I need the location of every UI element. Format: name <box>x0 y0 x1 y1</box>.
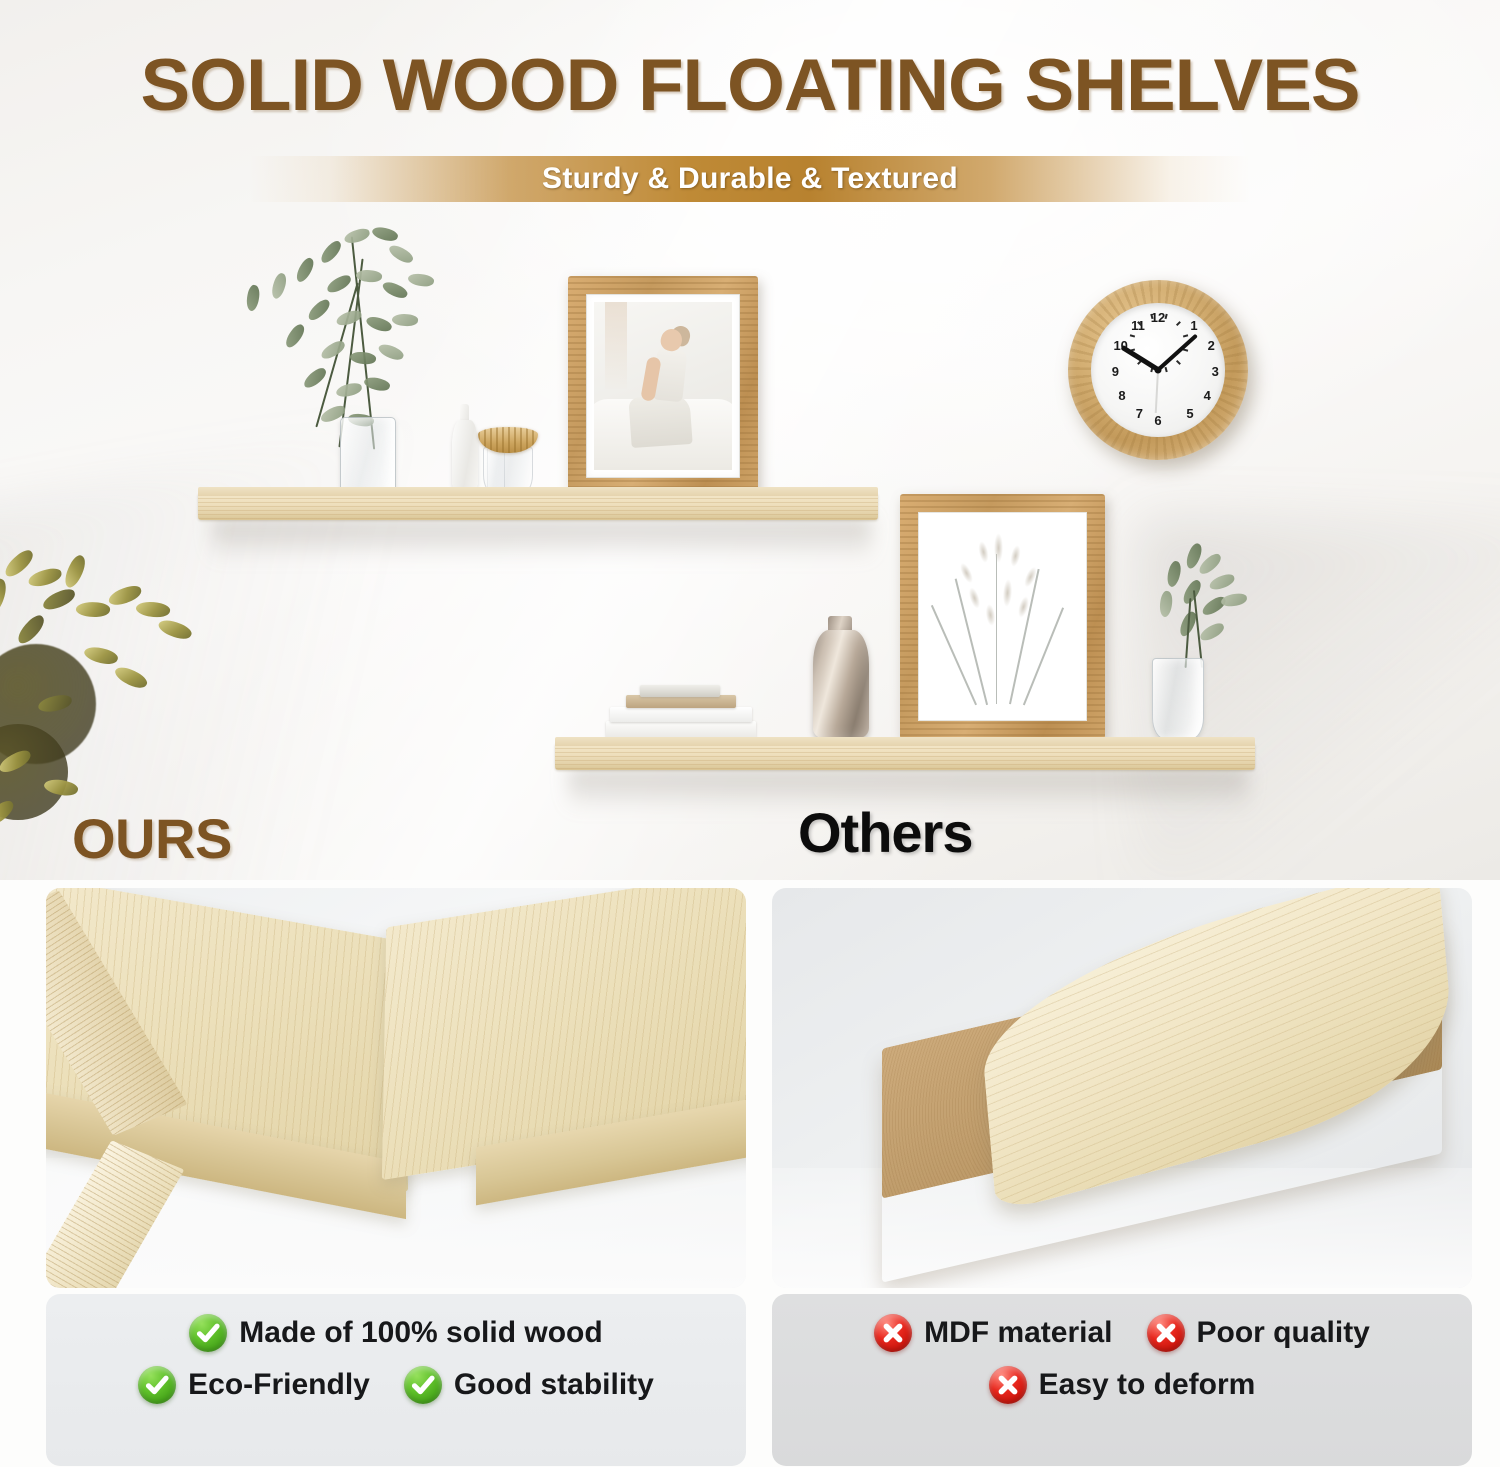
clock-numeral-9: 9 <box>1107 365 1123 378</box>
cross-icon <box>989 1366 1027 1404</box>
shelf-shadow <box>212 519 872 561</box>
feature-item: Eco-Friendly <box>138 1366 370 1404</box>
frame-mat <box>918 512 1087 721</box>
olive-foliage-sprig <box>0 548 222 848</box>
shelf-front-face <box>198 494 878 520</box>
feature-label: Easy to deform <box>1039 1368 1256 1402</box>
shelf-front-face <box>555 744 1255 770</box>
shelf-top-surface <box>555 737 1255 746</box>
check-icon <box>404 1366 442 1404</box>
feature-label: Poor quality <box>1197 1316 1370 1350</box>
feature-label: Good stability <box>454 1368 654 1402</box>
features-panel-others: MDF material Poor quality <box>772 1294 1472 1466</box>
frame-mat <box>586 294 740 478</box>
feature-item: Good stability <box>404 1366 654 1404</box>
comparison-column-ours: Made of 100% solid wood Eco-Friendly Goo… <box>46 888 746 1466</box>
floating-shelf-top <box>198 487 878 567</box>
comparison-column-others: MDF material Poor quality <box>772 888 1472 1466</box>
subtitle-text: Sturdy & Durable & Textured <box>542 162 958 196</box>
eucalyptus-branches-in-glass-vase <box>232 222 447 494</box>
clock-numeral-8: 8 <box>1114 389 1130 402</box>
clock-numeral-3: 3 <box>1207 365 1223 378</box>
clock-center-cap <box>1154 366 1161 373</box>
feature-row: Eco-Friendly Good stability <box>62 1366 730 1404</box>
clock-second-hand <box>1155 370 1159 413</box>
photo-mdf-board <box>772 888 1472 1288</box>
photo-solid-wood-boards <box>46 888 746 1288</box>
page-title: SOLID WOOD FLOATING SHELVES <box>0 44 1500 127</box>
wooden-wall-clock: 12 1 2 3 4 5 6 7 8 9 10 11 <box>1068 280 1248 460</box>
clock-face: 12 1 2 3 4 5 6 7 8 9 10 11 <box>1091 303 1224 436</box>
white-ceramic-bottle-vase <box>452 420 478 494</box>
feature-item: MDF material <box>874 1314 1112 1352</box>
clock-numeral-7: 7 <box>1131 407 1147 420</box>
clock-numeral-1: 1 <box>1186 319 1202 332</box>
clock-numeral-5: 5 <box>1182 407 1198 420</box>
wood-photo-frame-woman-portrait <box>568 276 758 496</box>
glass-vase-right <box>1152 658 1204 740</box>
feature-row: Made of 100% solid wood <box>62 1314 730 1352</box>
check-icon <box>189 1314 227 1352</box>
clock-numeral-6: 6 <box>1150 414 1166 427</box>
label-others: Others <box>798 800 973 865</box>
wood-photo-frame-botanical-art <box>900 494 1105 739</box>
clock-minute-hand <box>1157 334 1198 372</box>
cross-icon <box>874 1314 912 1352</box>
feature-item: Poor quality <box>1147 1314 1370 1352</box>
product-infographic: SOLID WOOD FLOATING SHELVES Sturdy & Dur… <box>0 0 1500 1467</box>
stacked-books <box>606 685 756 739</box>
glass-vase-greenery <box>1135 546 1245 671</box>
feature-label: Made of 100% solid wood <box>239 1316 602 1350</box>
bronze-glass-bottle-vase <box>813 630 869 738</box>
botanical-art-print <box>918 512 1087 721</box>
feature-row: Easy to deform <box>788 1366 1456 1404</box>
feature-item: Easy to deform <box>989 1366 1256 1404</box>
feature-item: Made of 100% solid wood <box>189 1314 602 1352</box>
check-icon <box>138 1366 176 1404</box>
clock-numeral-2: 2 <box>1203 339 1219 352</box>
feature-row: MDF material Poor quality <box>788 1314 1456 1352</box>
cross-icon <box>1147 1314 1185 1352</box>
clock-hour-hand <box>1121 345 1160 372</box>
label-ours: OURS <box>72 806 232 871</box>
feature-label: MDF material <box>924 1316 1112 1350</box>
clock-numeral-4: 4 <box>1199 389 1215 402</box>
subtitle-banner: Sturdy & Durable & Textured <box>250 156 1250 202</box>
features-panel-ours: Made of 100% solid wood Eco-Friendly Goo… <box>46 1294 746 1466</box>
portrait-photo <box>594 302 732 470</box>
shelf-top-surface <box>198 487 878 496</box>
hero-lifestyle-scene: SOLID WOOD FLOATING SHELVES Sturdy & Dur… <box>0 0 1500 880</box>
feature-label: Eco-Friendly <box>188 1368 370 1402</box>
